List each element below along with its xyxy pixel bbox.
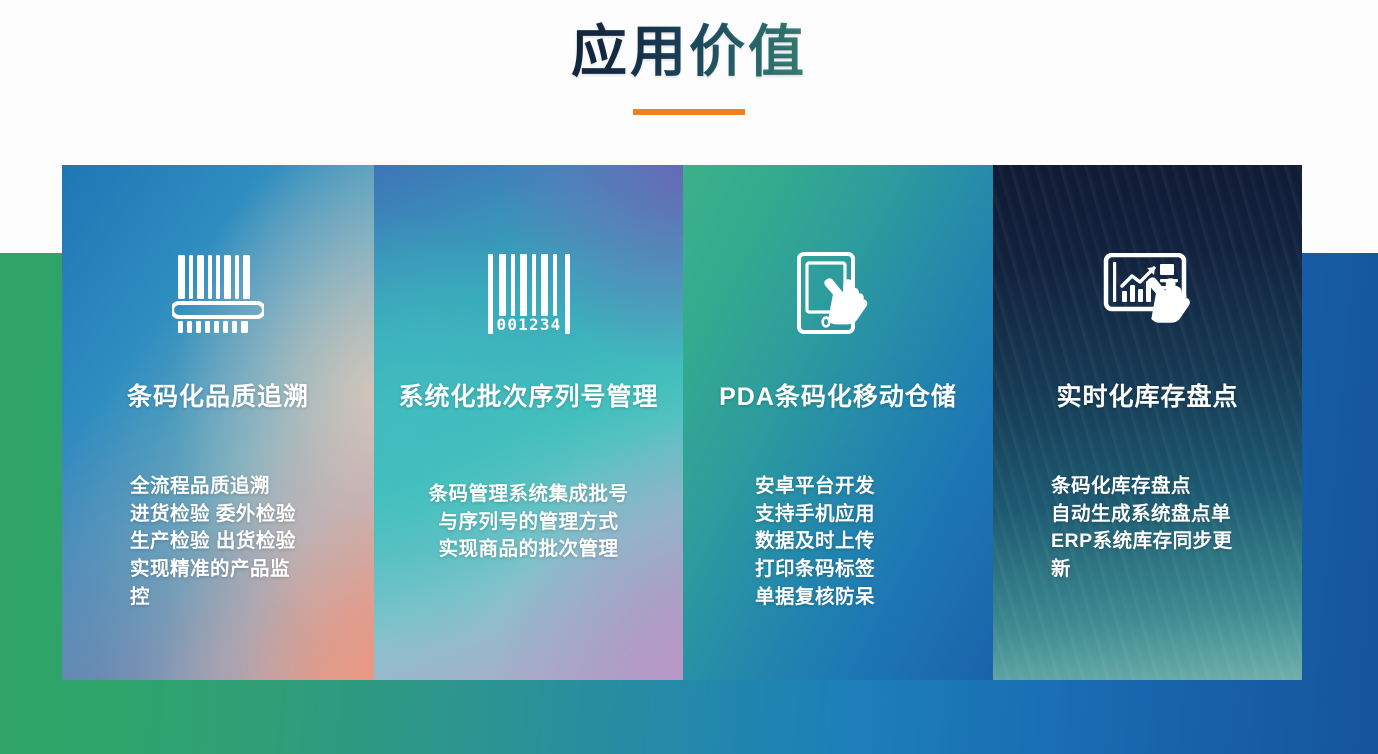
card-body: 条码化库存盘点 自动生成系统盘点单 ERP系统库存同步更 新 — [993, 473, 1302, 584]
barcode-number-icon: 001234 — [488, 249, 570, 339]
tablet-analytics-touch-icon — [1102, 249, 1194, 339]
card-body-line: 全流程品质追溯 — [130, 473, 360, 501]
card-body: 条码管理系统集成批号 与序列号的管理方式 实现商品的批次管理 — [374, 481, 683, 564]
card-title: PDA条码化移动仓储 — [719, 377, 957, 413]
page-header: 应用价值 — [0, 0, 1378, 165]
value-card-realtime-inventory-count[interactable]: 实时化库存盘点 条码化库存盘点 自动生成系统盘点单 ERP系统库存同步更 新 — [993, 165, 1302, 680]
card-body-line: 控 — [130, 584, 360, 612]
value-card-pda-mobile-warehouse[interactable]: PDA条码化移动仓储 安卓平台开发 支持手机应用 数据及时上传 打印条码标签 单… — [683, 165, 993, 680]
card-body-line: 数据及时上传 — [755, 528, 979, 556]
card-body-line: 实现商品的批次管理 — [392, 536, 665, 564]
card-body-line: 安卓平台开发 — [755, 473, 979, 501]
page-root: 应用价值 — [0, 0, 1378, 754]
card-body: 全流程品质追溯 进货检验 委外检验 生产检验 出货检验 实现精准的产品监 控 — [62, 473, 374, 611]
barcode-scanner-icon — [172, 249, 264, 339]
title-underline-accent — [633, 109, 745, 115]
card-body: 安卓平台开发 支持手机应用 数据及时上传 打印条码标签 单据复核防呆 — [683, 473, 993, 611]
value-card-barcode-quality-trace[interactable]: 条码化品质追溯 全流程品质追溯 进货检验 委外检验 生产检验 出货检验 实现精准… — [62, 165, 374, 680]
card-body-line: 单据复核防呆 — [755, 584, 979, 612]
card-body-line: 自动生成系统盘点单 — [1051, 501, 1288, 529]
card-body-line: 条码化库存盘点 — [1051, 473, 1288, 501]
card-body-line: 实现精准的产品监 — [130, 556, 360, 584]
card-title: 实时化库存盘点 — [1056, 377, 1238, 413]
value-card-batch-serial-management[interactable]: 001234 系统化批次序列号管理 条码管理系统集成批号 与序列号的管理方式 实… — [374, 165, 683, 680]
card-title: 系统化批次序列号管理 — [398, 377, 658, 413]
card-body-line: 生产检验 出货检验 — [130, 528, 360, 556]
card-title: 条码化品质追溯 — [127, 377, 309, 413]
card-body-line: 条码管理系统集成批号 — [392, 481, 665, 509]
card-body-line: 支持手机应用 — [755, 501, 979, 529]
card-body-line: 新 — [1051, 556, 1288, 584]
card-body-line: 打印条码标签 — [755, 556, 979, 584]
card-body-line: 与序列号的管理方式 — [392, 509, 665, 537]
value-cards-row: 条码化品质追溯 全流程品质追溯 进货检验 委外检验 生产检验 出货检验 实现精准… — [62, 165, 1302, 680]
card-body-line: ERP系统库存同步更 — [1051, 528, 1288, 556]
card-body-line: 进货检验 委外检验 — [130, 501, 360, 529]
tablet-touch-icon — [795, 249, 881, 339]
page-title: 应用价值 — [571, 18, 807, 85]
barcode-number-text: 001234 — [496, 315, 561, 334]
